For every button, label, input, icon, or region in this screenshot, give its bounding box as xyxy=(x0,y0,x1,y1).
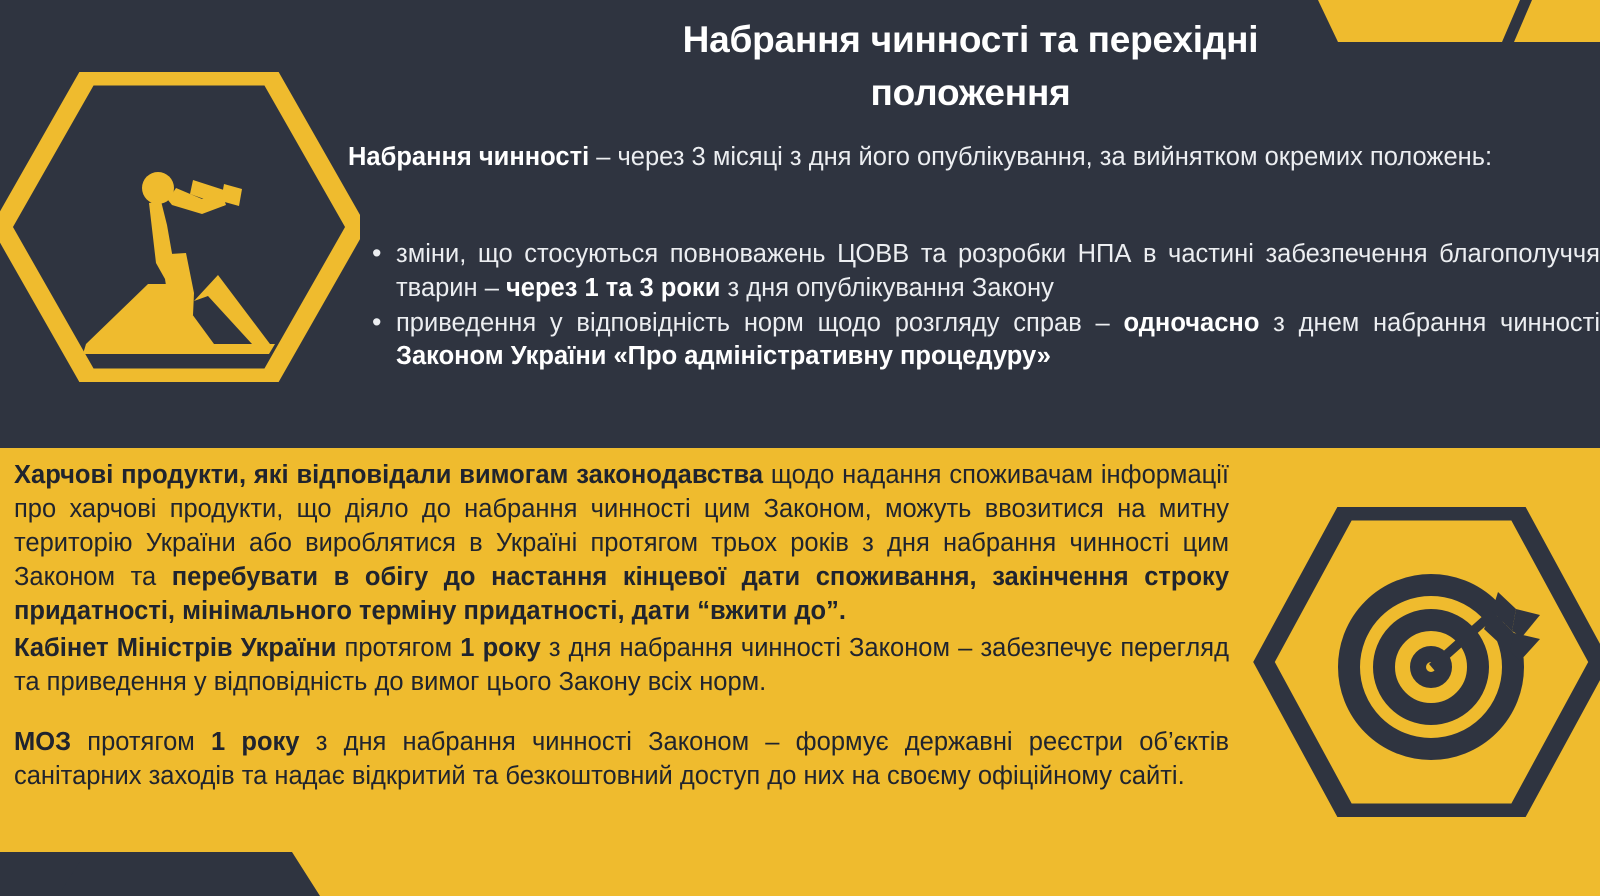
bullet-1-part2: з дня опублікування Закону xyxy=(720,274,1053,302)
page-title: Набрання чинності та перехідні положення xyxy=(348,14,1593,119)
exception-bullet-list: зміни, що стосуються повноважень ЦОВВ та… xyxy=(368,238,1600,375)
bullet-2-bold1: одночасно xyxy=(1123,309,1259,337)
p3-text1: протягом xyxy=(71,728,211,756)
moz-paragraph: МОЗ протягом 1 року з дня набрання чинно… xyxy=(14,725,1229,793)
bullet-1-bold1: через 1 та 3 роки xyxy=(506,274,720,302)
list-item: приведення у відповідність норм щодо роз… xyxy=(368,307,1600,375)
bullet-2-part2: з днем набрання чинності xyxy=(1259,309,1600,337)
cabinet-of-ministers-paragraph: Кабінет Міністрів України протягом 1 рок… xyxy=(14,631,1229,699)
p2-bold2: 1 року xyxy=(460,634,540,662)
hexagon-badge-vision xyxy=(0,72,360,382)
p1-bold1: Харчові продукти, які відповідали вимога… xyxy=(14,461,763,489)
effective-date-intro: Набрання чинності – через 3 місяці з дня… xyxy=(348,141,1596,175)
hexagon-badge-target xyxy=(1243,507,1600,817)
intro-rest: – через 3 місяці з дня його опублікуванн… xyxy=(589,143,1492,171)
intro-lead: Набрання чинності xyxy=(348,143,589,171)
list-item: зміни, що стосуються повноважень ЦОВВ та… xyxy=(368,238,1600,306)
page-title-line1: Набрання чинності та перехідні xyxy=(348,14,1593,67)
page-title-line2: положення xyxy=(348,67,1593,120)
person-with-telescope-on-mountain-icon xyxy=(0,72,360,382)
food-products-paragraph: Харчові продукти, які відповідали вимога… xyxy=(14,458,1229,628)
bullet-2-part1: приведення у відповідність норм щодо роз… xyxy=(396,309,1123,337)
bullet-2-bold2: Законом України «Про адміністративну про… xyxy=(396,342,1051,370)
p3-bold2: 1 року xyxy=(211,728,299,756)
corner-decoration-shapes-2 xyxy=(0,834,340,896)
p3-bold1: МОЗ xyxy=(14,728,71,756)
top-dark-panel: Набрання чинності та перехідні положення… xyxy=(0,0,1600,448)
p2-text1: протягом xyxy=(336,634,460,662)
infographic-slide: Набрання чинності та перехідні положення… xyxy=(0,0,1600,896)
p1-bold2: перебувати в обігу до настання кінцевої … xyxy=(14,563,1229,625)
target-with-dart-icon xyxy=(1243,507,1600,817)
corner-decoration-bottom-left xyxy=(0,834,340,896)
p2-bold1: Кабінет Міністрів України xyxy=(14,634,336,662)
